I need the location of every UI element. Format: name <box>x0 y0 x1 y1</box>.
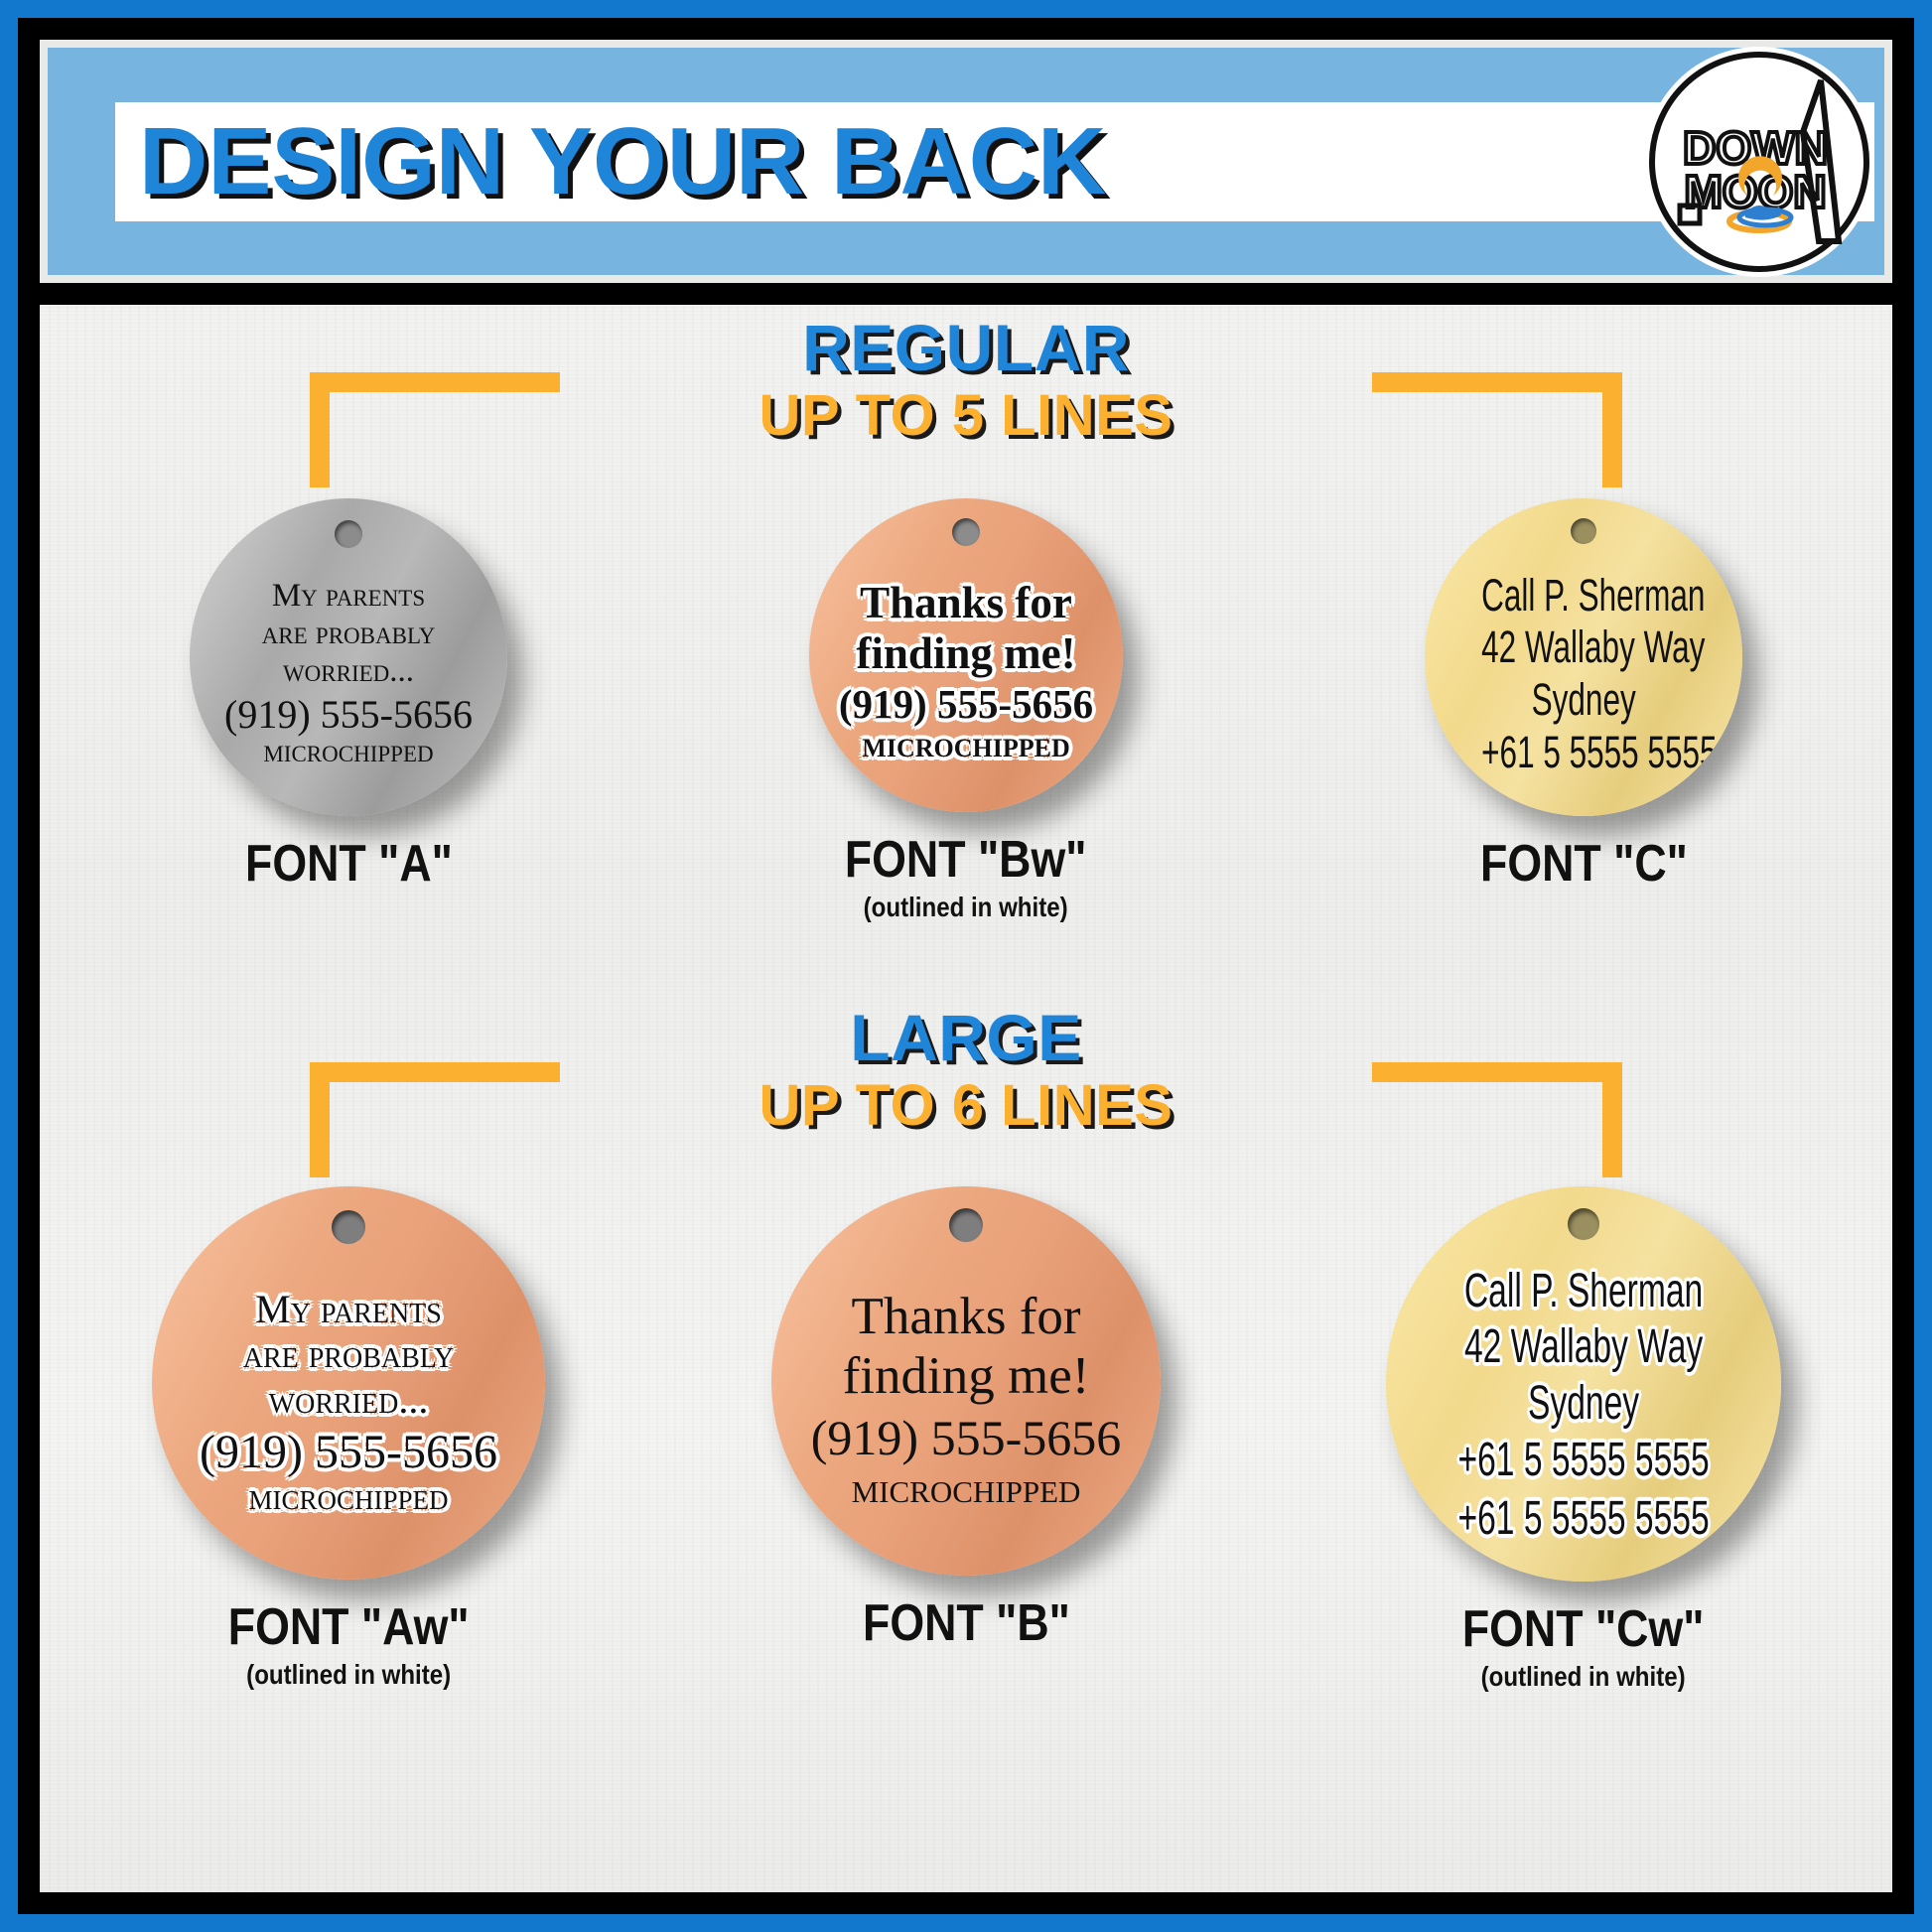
tag-line: Sydney <box>1456 1376 1711 1433</box>
tag-wrap-font-b: Thanks for finding me! (919) 555-5656 MI… <box>771 1186 1161 1576</box>
tag-cell-font-bw[interactable]: Thanks for finding me! (919) 555-5656 MI… <box>708 498 1224 923</box>
tag-line: Call P. Sherman <box>1456 1264 1711 1320</box>
pet-tag-font-cw[interactable]: Call P. Sherman 42 Wallaby Way Sydney +6… <box>1386 1186 1781 1582</box>
tag-line: (919) 555-5656 <box>787 1407 1146 1469</box>
tag-wrap-font-bw: Thanks for finding me! (919) 555-5656 MI… <box>809 498 1123 812</box>
tag-line: finding me! <box>787 1346 1146 1406</box>
caption-font-aw: FONT "Aw" (outlined in white) <box>208 1597 488 1691</box>
tag-hole-icon <box>1571 518 1596 544</box>
down-moon-logo: DOWN MOON <box>1644 47 1874 277</box>
tag-row-regular: My parents are probably worried... (919)… <box>40 498 1892 923</box>
tag-line: My parents <box>203 578 494 616</box>
tag-line: finding me! <box>822 628 1111 679</box>
caption-sublabel: (outlined in white) <box>845 892 1087 923</box>
tag-wrap-font-cw: Call P. Sherman 42 Wallaby Way Sydney +6… <box>1386 1186 1781 1582</box>
pet-tag-font-a[interactable]: My parents are probably worried... (919)… <box>190 498 507 816</box>
tag-line: MICROCHIPPED <box>168 1482 529 1519</box>
tag-line: MICROCHIPPED <box>203 740 494 770</box>
section-header-large: LARGE UP TO 6 LINES <box>40 1005 1892 1203</box>
caption-font-bw: FONT "Bw" (outlined in white) <box>825 830 1106 923</box>
section-title-large: LARGE <box>40 1005 1892 1071</box>
section-title-regular: REGULAR <box>40 315 1892 381</box>
caption-label: FONT "Bw" <box>845 830 1087 890</box>
tag-line: MICROCHIPPED <box>787 1469 1146 1516</box>
pet-tag-font-c[interactable]: Call P. Sherman 42 Wallaby Way Sydney +6… <box>1425 498 1742 816</box>
tag-text-font-b: Thanks for finding me! (919) 555-5656 MI… <box>787 1287 1146 1515</box>
page-title: DESIGN YOUR BACK <box>139 114 1106 209</box>
section-subtitle-regular: UP TO 5 LINES <box>40 386 1892 445</box>
body-area: REGULAR UP TO 5 LINES My parents are pro… <box>40 305 1892 1892</box>
pet-tag-font-b[interactable]: Thanks for finding me! (919) 555-5656 MI… <box>771 1186 1161 1576</box>
tag-line: +61 5 5555 5555 <box>1456 1432 1711 1490</box>
poster-frame: DESIGN YOUR BACK DOWN MOON <box>18 18 1914 1914</box>
tag-cell-font-c[interactable]: Call P. Sherman 42 Wallaby Way Sydney +6… <box>1325 498 1842 894</box>
caption-font-cw: FONT "Cw" (outlined in white) <box>1443 1599 1724 1693</box>
logo-artwork-icon: DOWN MOON <box>1644 47 1874 277</box>
caption-sublabel: (outlined in white) <box>228 1659 470 1691</box>
caption-label: FONT "A" <box>245 834 453 894</box>
tag-wrap-font-a: My parents are probably worried... (919)… <box>190 498 507 816</box>
header-body-divider <box>40 283 1892 305</box>
tag-line: are probably <box>203 616 494 653</box>
tag-line: 42 Wallaby Way <box>1456 1319 1711 1376</box>
tag-cell-font-aw[interactable]: My parents are probably worried... (919)… <box>90 1186 607 1691</box>
pet-tag-font-aw[interactable]: My parents are probably worried... (919)… <box>152 1186 545 1580</box>
tag-line: Thanks for <box>787 1287 1146 1346</box>
tag-line: (919) 555-5656 <box>168 1423 529 1482</box>
tag-line: +61 5 5555 5555 <box>1481 726 1686 780</box>
tag-line: Thanks for <box>822 578 1111 628</box>
tag-line: +61 5 5555 5555 <box>1456 1490 1711 1549</box>
caption-font-c: FONT "C" <box>1463 834 1705 894</box>
section-subtitle-large: UP TO 6 LINES <box>40 1076 1892 1135</box>
tag-hole-icon <box>1568 1208 1599 1240</box>
tag-hole-icon <box>952 518 980 546</box>
tag-hole-icon <box>335 520 362 548</box>
poster-root: DESIGN YOUR BACK DOWN MOON <box>0 0 1932 1932</box>
tag-line: are probably <box>168 1331 529 1377</box>
tag-cell-font-b[interactable]: Thanks for finding me! (919) 555-5656 MI… <box>708 1186 1224 1653</box>
header-band: DESIGN YOUR BACK DOWN MOON <box>40 40 1892 283</box>
tag-text-font-bw: Thanks for finding me! (919) 555-5656 MI… <box>822 578 1111 767</box>
pet-tag-font-bw[interactable]: Thanks for finding me! (919) 555-5656 MI… <box>809 498 1123 812</box>
tag-line: My parents <box>168 1287 529 1332</box>
tag-line: (919) 555-5656 <box>822 679 1111 730</box>
caption-sublabel: (outlined in white) <box>1462 1661 1705 1693</box>
tag-wrap-font-aw: My parents are probably worried... (919)… <box>152 1186 545 1580</box>
tag-text-font-cw: Call P. Sherman 42 Wallaby Way Sydney +6… <box>1456 1264 1711 1549</box>
tag-text-font-aw: My parents are probably worried... (919)… <box>168 1287 529 1520</box>
tag-wrap-font-c: Call P. Sherman 42 Wallaby Way Sydney +6… <box>1425 498 1742 816</box>
tag-line: Sydney <box>1481 674 1686 726</box>
caption-font-b: FONT "B" <box>846 1593 1087 1653</box>
caption-label: FONT "Cw" <box>1462 1599 1705 1659</box>
tag-hole-icon <box>949 1208 983 1242</box>
caption-label: FONT "C" <box>1480 834 1688 894</box>
tag-line: 42 Wallaby Way <box>1481 621 1686 673</box>
tag-row-large: My parents are probably worried... (919)… <box>40 1186 1892 1693</box>
tag-cell-font-a[interactable]: My parents are probably worried... (919)… <box>90 498 607 894</box>
section-header-regular: REGULAR UP TO 5 LINES <box>40 315 1892 513</box>
tag-text-font-c: Call P. Sherman 42 Wallaby Way Sydney +6… <box>1481 570 1686 779</box>
tag-line: worried... <box>168 1377 529 1423</box>
caption-label: FONT "B" <box>863 1593 1070 1653</box>
caption-label: FONT "Aw" <box>228 1597 470 1657</box>
tag-cell-font-cw[interactable]: Call P. Sherman 42 Wallaby Way Sydney +6… <box>1325 1186 1842 1693</box>
tag-hole-icon <box>332 1210 365 1244</box>
caption-font-a: FONT "A" <box>228 834 470 894</box>
tag-line: Call P. Sherman <box>1481 570 1686 621</box>
tag-line: MICROCHIPPED <box>822 730 1111 766</box>
header-blue-panel: DESIGN YOUR BACK DOWN MOON <box>48 48 1884 275</box>
tag-text-font-a: My parents are probably worried... (919)… <box>203 578 494 769</box>
tag-line: (919) 555-5656 <box>203 690 494 740</box>
tag-line: worried... <box>203 653 494 691</box>
